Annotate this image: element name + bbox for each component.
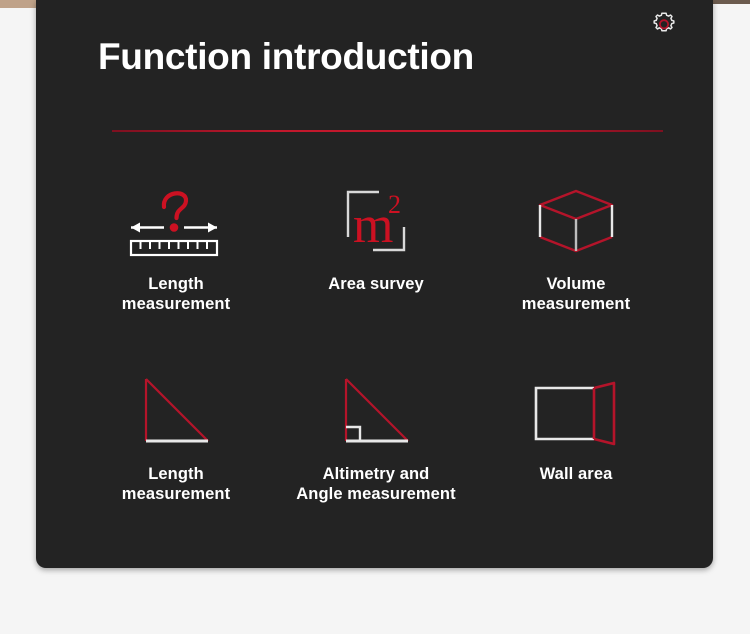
feature-label: Volume measurement	[522, 274, 630, 314]
wall-area-panel-icon	[526, 366, 626, 458]
feature-card-length-measurement-ruler[interactable]: Length measurement	[76, 176, 276, 366]
feature-label: Length measurement	[122, 274, 230, 314]
feature-card-altimetry-angle-measurement[interactable]: Altimetry and Angle measurement	[276, 366, 476, 556]
altimetry-angle-triangle-icon	[328, 366, 424, 458]
length-measurement-ruler-icon	[121, 176, 231, 268]
gear-icon	[649, 10, 679, 40]
top-right-edge-strip	[713, 0, 750, 4]
feature-label: Length measurement	[122, 464, 230, 504]
page-title: Function introduction	[98, 36, 474, 78]
feature-grid: Length measurement m 2 Area survey	[76, 176, 676, 556]
function-introduction-panel: Function introduction	[36, 0, 713, 568]
feature-card-area-survey[interactable]: m 2 Area survey	[276, 176, 476, 366]
feature-card-volume-measurement[interactable]: Volume measurement	[476, 176, 676, 366]
length-measurement-triangle-icon	[128, 366, 224, 458]
area-survey-square-meter-icon: m 2	[333, 176, 419, 268]
title-divider	[112, 130, 663, 132]
feature-label: Altimetry and Angle measurement	[296, 464, 455, 504]
feature-label: Wall area	[540, 464, 613, 484]
top-left-edge-strip	[0, 0, 36, 8]
settings-gear-button[interactable]	[647, 8, 681, 42]
volume-measurement-cube-icon	[528, 176, 624, 268]
feature-card-length-measurement-triangle[interactable]: Length measurement	[76, 366, 276, 556]
svg-text:2: 2	[388, 190, 401, 219]
feature-card-wall-area[interactable]: Wall area	[476, 366, 676, 556]
feature-label: Area survey	[328, 274, 424, 294]
